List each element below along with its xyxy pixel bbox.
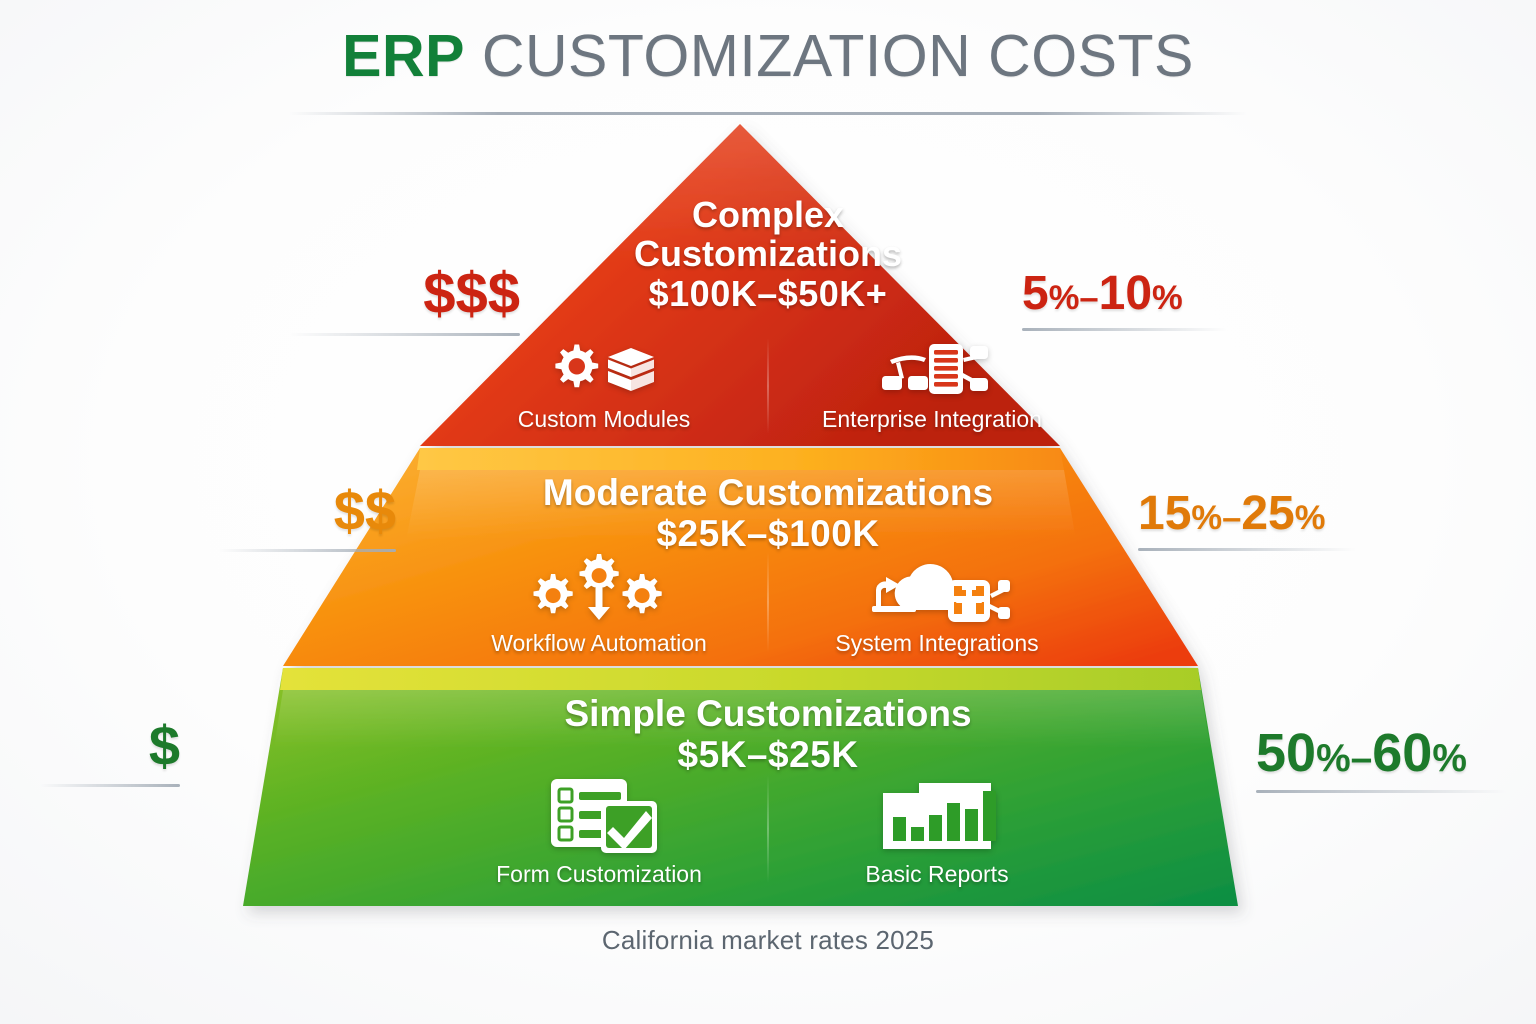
cost-indicator-middle-rule bbox=[218, 549, 396, 552]
share-middle-sep: %– bbox=[1191, 499, 1241, 537]
share-top: 5%–10% bbox=[1022, 270, 1226, 331]
item-form-customization[interactable]: Form Customization bbox=[449, 775, 749, 888]
gear-box-icon bbox=[546, 338, 662, 400]
tier-top-divider bbox=[767, 338, 769, 434]
item-basic-reports[interactable]: Basic Reports bbox=[787, 775, 1087, 888]
cost-indicator-middle-value: $$ bbox=[218, 483, 396, 539]
item-system-integrations-label: System Integrations bbox=[835, 630, 1038, 657]
tier-middle-items: Workflow Automation bbox=[0, 552, 1536, 657]
cost-indicator-top-value: $$$ bbox=[290, 265, 520, 323]
form-check-icon bbox=[523, 775, 675, 855]
share-middle-value: 15%–25% bbox=[1138, 490, 1356, 538]
share-base: 50%–60% bbox=[1256, 726, 1506, 793]
tier-middle-divider bbox=[767, 552, 769, 652]
share-middle: 15%–25% bbox=[1138, 490, 1356, 551]
cost-indicator-base: $ bbox=[40, 718, 180, 787]
share-top-rule bbox=[1022, 328, 1226, 331]
item-workflow-automation[interactable]: Workflow Automation bbox=[449, 552, 749, 657]
item-custom-modules-label: Custom Modules bbox=[518, 406, 691, 433]
item-system-integrations[interactable]: System Integrations bbox=[787, 552, 1087, 657]
item-custom-modules[interactable]: Custom Modules bbox=[459, 338, 749, 433]
tier-top-items: Custom Modules bbox=[0, 338, 1536, 434]
cloud-puzzle-icon bbox=[862, 552, 1012, 624]
gears-arrow-icon bbox=[524, 552, 674, 624]
footer-note: California market rates 2025 bbox=[0, 925, 1536, 956]
share-middle-min: 15 bbox=[1138, 487, 1191, 540]
share-top-max: 10 bbox=[1099, 267, 1152, 320]
share-base-max: 60 bbox=[1372, 723, 1432, 783]
share-base-sep: %– bbox=[1316, 737, 1372, 780]
share-top-value: 5%–10% bbox=[1022, 270, 1226, 318]
item-form-customization-label: Form Customization bbox=[496, 861, 702, 888]
share-top-unit: % bbox=[1152, 279, 1183, 317]
share-middle-rule bbox=[1138, 548, 1356, 551]
item-enterprise-integration-label: Enterprise Integration bbox=[822, 406, 1042, 433]
bar-chart-icon bbox=[861, 775, 1013, 855]
item-enterprise-integration[interactable]: Enterprise Integration bbox=[787, 338, 1077, 433]
cost-indicator-base-rule bbox=[40, 784, 180, 787]
share-middle-max: 25 bbox=[1241, 487, 1294, 540]
share-top-min: 5 bbox=[1022, 267, 1049, 320]
server-network-icon bbox=[874, 338, 990, 400]
pyramid-tier-middle-cap bbox=[417, 448, 1064, 470]
item-basic-reports-label: Basic Reports bbox=[865, 861, 1008, 888]
cost-indicator-middle: $$ bbox=[218, 483, 396, 552]
cost-indicator-top: $$$ bbox=[290, 265, 520, 336]
share-base-value: 50%–60% bbox=[1256, 726, 1506, 780]
share-top-sep: %– bbox=[1049, 279, 1099, 317]
pyramid-tier-base-cap bbox=[280, 668, 1201, 690]
share-base-rule bbox=[1256, 790, 1506, 793]
cost-indicator-base-value: $ bbox=[40, 718, 180, 774]
cost-indicator-top-rule bbox=[290, 333, 520, 336]
item-workflow-automation-label: Workflow Automation bbox=[491, 630, 707, 657]
infographic-canvas: ERP CUSTOMIZATION COSTS bbox=[0, 0, 1536, 1024]
share-middle-unit: % bbox=[1295, 499, 1326, 537]
share-base-min: 50 bbox=[1256, 723, 1316, 783]
tier-base-divider bbox=[767, 775, 769, 883]
share-base-unit: % bbox=[1432, 737, 1467, 780]
